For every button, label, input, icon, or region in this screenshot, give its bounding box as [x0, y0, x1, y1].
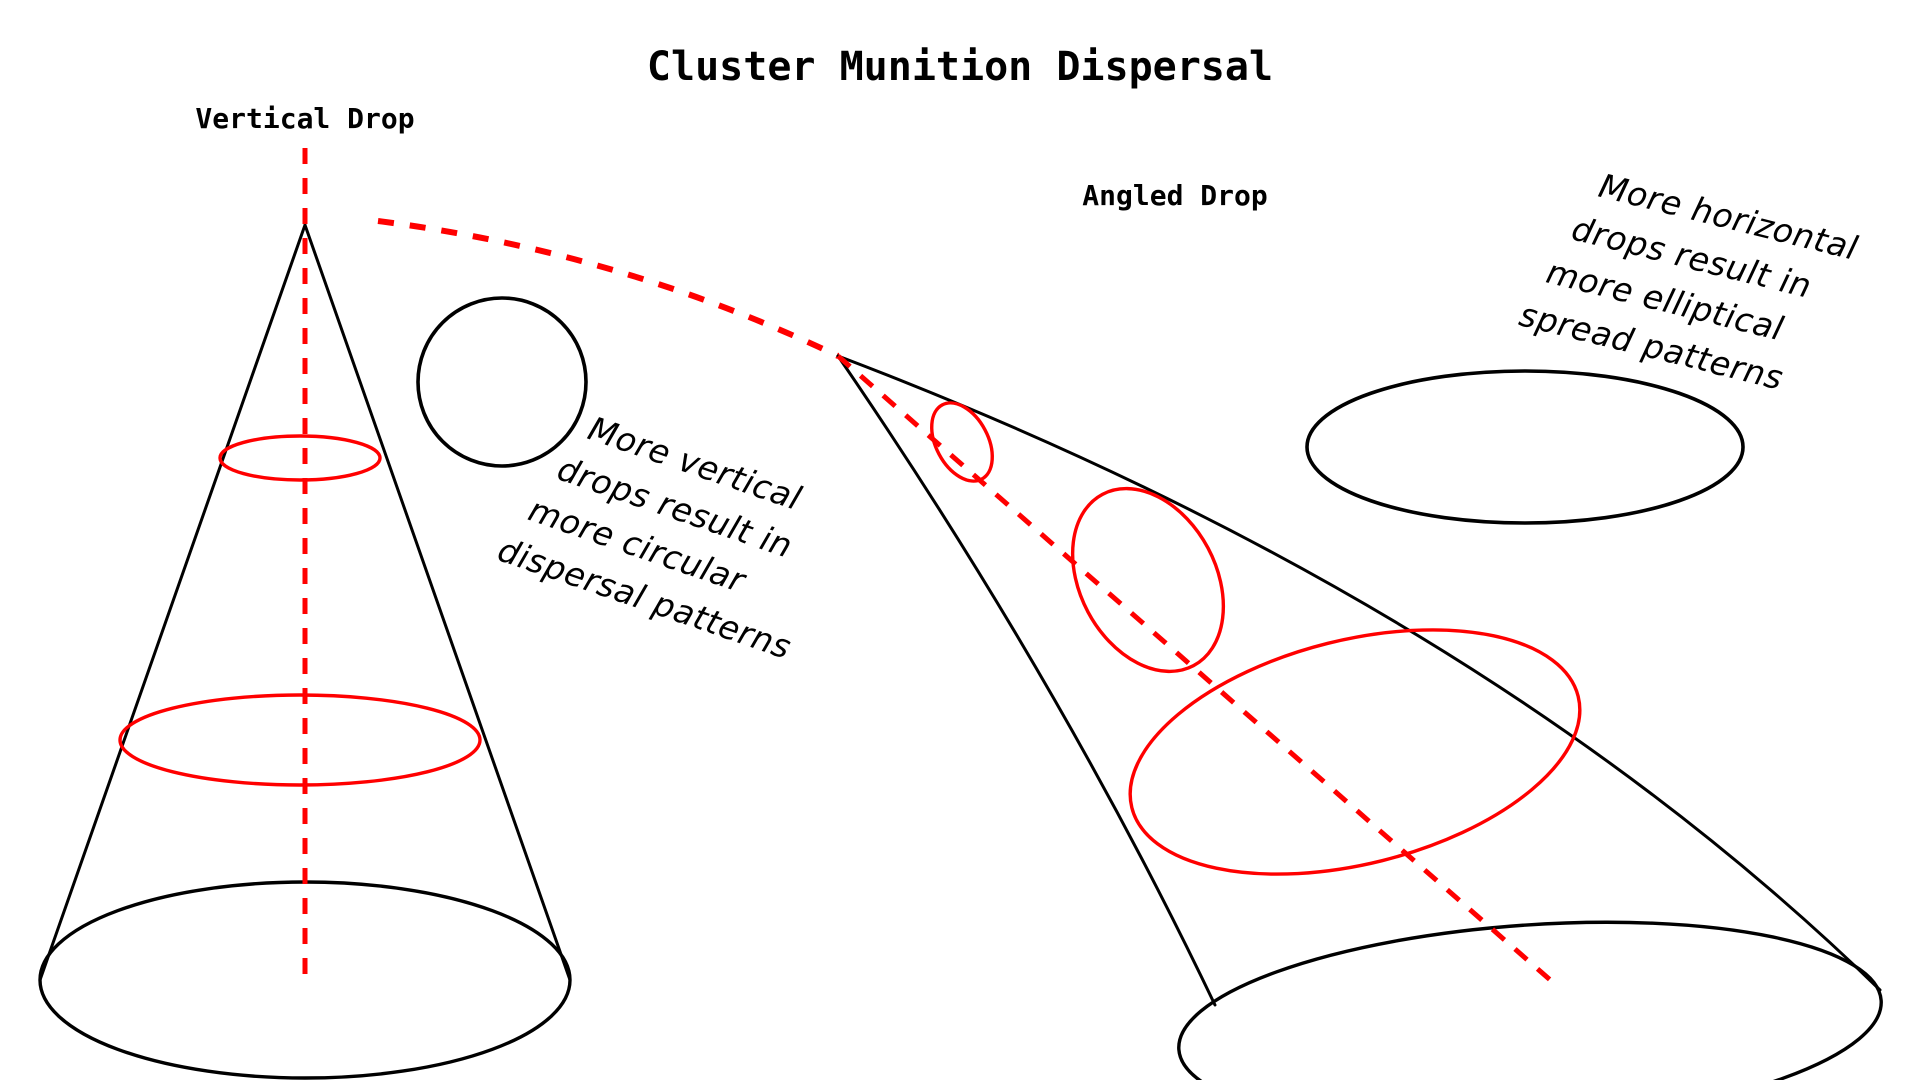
- diagram-canvas: Cluster Munition Dispersal Vertical Drop…: [0, 0, 1920, 1080]
- vertical-drop-panel: Vertical Drop More vertical drops result…: [40, 102, 843, 1078]
- angled-cone-lower-edge: [838, 356, 1215, 1005]
- vertical-annotation: More vertical drops result in more circu…: [493, 394, 843, 667]
- angled-cone-base-ellipse: [1172, 901, 1888, 1080]
- angled-drop-label: Angled Drop: [1082, 179, 1267, 212]
- dispersal-slice-small: [919, 393, 1004, 492]
- vertical-drop-label: Vertical Drop: [195, 102, 414, 135]
- dispersal-slice-medium: [1042, 462, 1253, 697]
- cone-right-edge: [305, 225, 570, 980]
- dispersal-slice-upper: [220, 436, 380, 480]
- page-title: Cluster Munition Dispersal: [647, 44, 1273, 90]
- cone-left-edge: [40, 225, 305, 980]
- angled-cone-upper-edge: [838, 356, 1880, 990]
- angled-drop-panel: Angled Drop More horizontal drops result…: [838, 155, 1888, 1080]
- angled-drop-axis: [838, 356, 1556, 985]
- dispersal-diagram: Cluster Munition Dispersal Vertical Drop…: [0, 0, 1920, 1080]
- elliptical-pattern-shape: [1307, 371, 1743, 523]
- flight-path-trajectory: [378, 221, 838, 356]
- dispersal-slice-large: [1105, 588, 1606, 917]
- dispersal-slice-lower: [120, 695, 480, 785]
- angled-annotation: More horizontal drops result in more ell…: [1516, 155, 1862, 408]
- circular-pattern-shape: [418, 298, 586, 466]
